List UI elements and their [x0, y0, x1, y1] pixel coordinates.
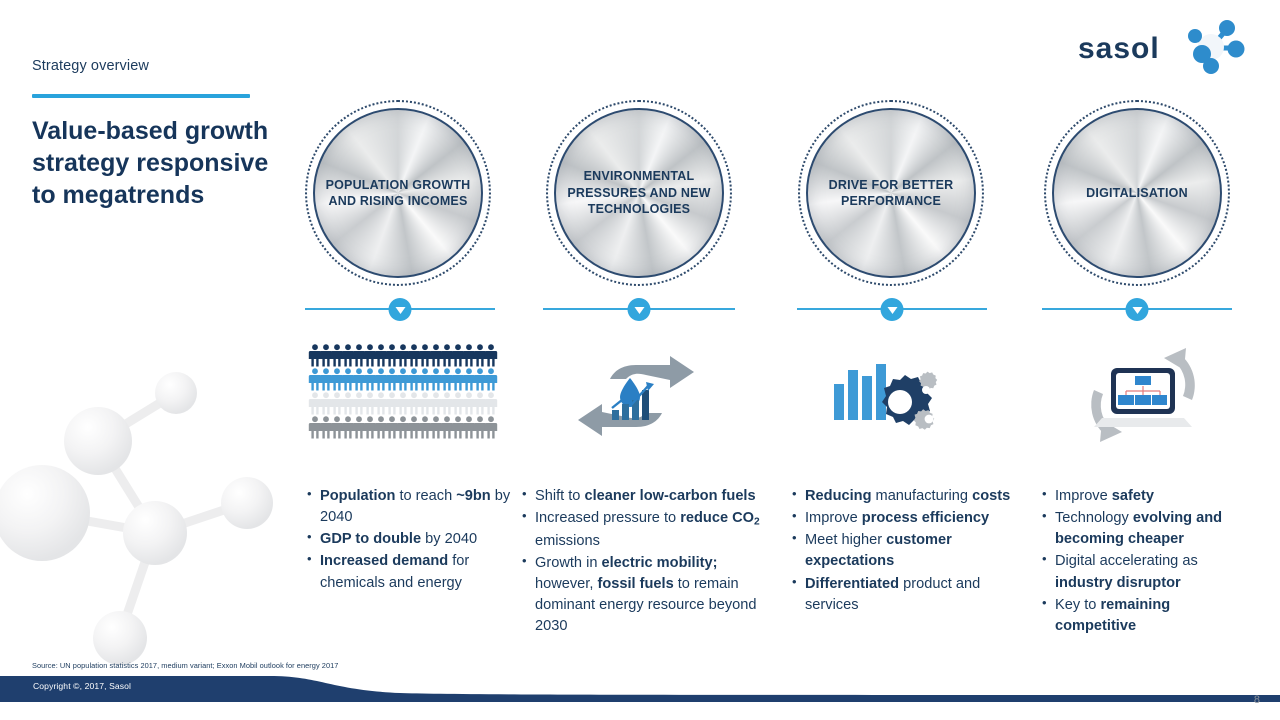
metallic-disc: DRIVE FOR BETTER PERFORMANCE: [806, 108, 976, 278]
sasol-logo: sasol: [1078, 18, 1248, 74]
bullet-item: Increased pressure to reduce CO2 emissio…: [520, 508, 770, 552]
pillar-label: POPULATION GROWTH AND RISING INCOMES: [315, 177, 481, 210]
chevron-down-icon[interactable]: [1126, 298, 1149, 321]
connector-population: [305, 300, 495, 318]
logo-wordmark: sasol: [1078, 32, 1160, 65]
connector-environment: [543, 300, 735, 318]
megatrend-circles: POPULATION GROWTH AND RISING INCOMES ENV…: [0, 100, 1280, 285]
connector-digitalisation: [1042, 300, 1232, 318]
bullets-column-environment: Shift to cleaner low-carbon fuelsIncreas…: [520, 486, 770, 638]
pillar-circle-population[interactable]: POPULATION GROWTH AND RISING INCOMES: [305, 100, 491, 286]
bullet-item: Reducing manufacturing costs: [790, 486, 1030, 507]
gears-bar-chart-icon: [828, 342, 948, 452]
hands-water-droplet-growth-icon: [566, 342, 706, 452]
connector-performance: [797, 300, 987, 318]
metallic-disc: POPULATION GROWTH AND RISING INCOMES: [313, 108, 483, 278]
chevron-down-icon[interactable]: [628, 298, 651, 321]
bullet-item: Meet higher customer expectations: [790, 530, 1030, 572]
bullet-item: Shift to cleaner low-carbon fuels: [520, 486, 770, 507]
accent-divider: [32, 94, 250, 98]
footer-bar: [0, 676, 1280, 702]
bullet-item: Digital accelerating as industry disrupt…: [1040, 551, 1255, 593]
bullet-item: Population to reach ~9bn by 2040: [305, 486, 520, 528]
pillar-label: DIGITALISATION: [1076, 185, 1198, 202]
pillar-circle-digitalisation[interactable]: DIGITALISATION: [1044, 100, 1230, 286]
people-pictogram-icon: [308, 342, 508, 452]
page-number: 8: [1254, 694, 1260, 706]
bullets-column-digitalisation: Improve safetyTechnology evolving and be…: [1040, 486, 1255, 638]
metallic-disc: ENVIRONMENTAL PRESSURES AND NEW TECHNOLO…: [554, 108, 724, 278]
bullet-list: Improve safetyTechnology evolving and be…: [1040, 486, 1255, 637]
bullet-item: Growth in electric mobility; however, fo…: [520, 553, 770, 638]
bullet-list: Shift to cleaner low-carbon fuelsIncreas…: [520, 486, 770, 637]
bullet-item: Improve safety: [1040, 486, 1255, 507]
molecule-watermark-graphic: [0, 355, 290, 675]
bullet-item: GDP to double by 2040: [305, 529, 520, 550]
chevron-down-icon[interactable]: [881, 298, 904, 321]
bullets-column-population: Population to reach ~9bn by 2040GDP to d…: [305, 486, 520, 595]
pillar-label: DRIVE FOR BETTER PERFORMANCE: [808, 177, 974, 210]
laptop-cycle-arrows-icon: [1078, 342, 1208, 452]
bullet-item: Key to remaining competitive: [1040, 595, 1255, 637]
bullets-column-performance: Reducing manufacturing costsImprove proc…: [790, 486, 1030, 617]
pillar-circle-environment[interactable]: ENVIRONMENTAL PRESSURES AND NEW TECHNOLO…: [546, 100, 732, 286]
pillar-circle-performance[interactable]: DRIVE FOR BETTER PERFORMANCE: [798, 100, 984, 286]
bullet-item: Technology evolving and becoming cheaper: [1040, 508, 1255, 550]
bullet-list: Population to reach ~9bn by 2040GDP to d…: [305, 486, 520, 594]
breadcrumb-eyebrow: Strategy overview: [32, 58, 149, 74]
bullet-item: Differentiated product and services: [790, 574, 1030, 616]
bullet-item: Improve process efficiency: [790, 508, 1030, 529]
source-note: Source: UN population statistics 2017, m…: [32, 661, 338, 670]
pillar-label: ENVIRONMENTAL PRESSURES AND NEW TECHNOLO…: [556, 168, 722, 218]
molecule-logo-icon: [1188, 20, 1245, 74]
copyright-text: Copyright ©, 2017, Sasol: [33, 681, 131, 691]
metallic-disc: DIGITALISATION: [1052, 108, 1222, 278]
chevron-down-icon[interactable]: [389, 298, 412, 321]
bullet-list: Reducing manufacturing costsImprove proc…: [790, 486, 1030, 616]
bullet-item: Increased demand for chemicals and energ…: [305, 551, 520, 593]
